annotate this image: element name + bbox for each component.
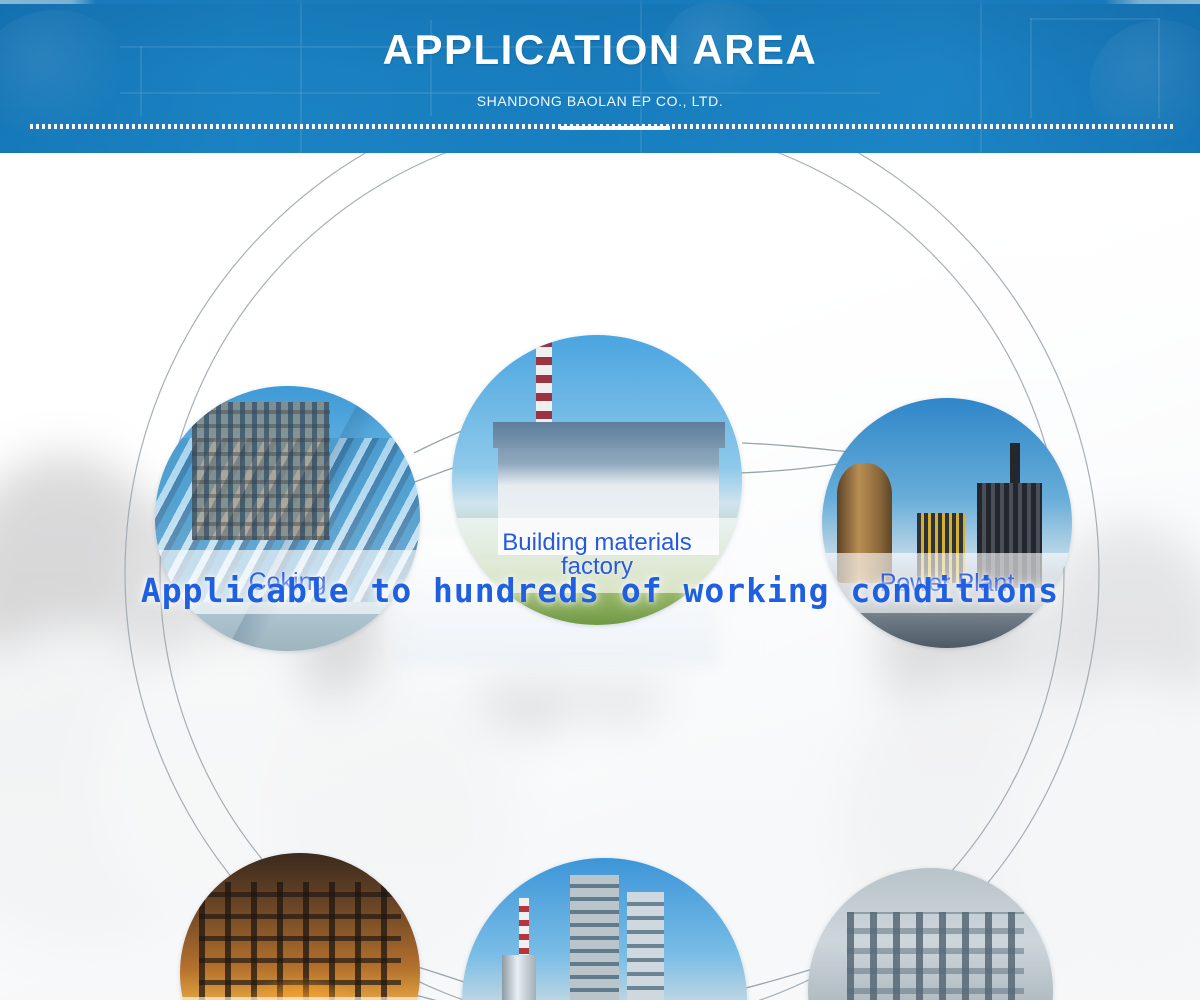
page-title: APPLICATION AREA (0, 27, 1200, 73)
header-divider-accent (560, 126, 670, 130)
node-chemical-industry[interactable]: Chemical Industry (462, 858, 747, 1000)
header-top-strip (0, 0, 1200, 4)
page-header-banner: APPLICATION AREA SHANDONG BAOLAN EP CO.,… (0, 0, 1200, 153)
node-coking[interactable]: Coking (155, 386, 420, 651)
header-foliage-overlay (0, 0, 1200, 153)
metallurgy-plant-photo (808, 868, 1053, 1000)
chemical-refinery-photo (462, 858, 747, 1000)
node-steel[interactable]: Steel (180, 853, 420, 1000)
page-subtitle: SHANDONG BAOLAN EP CO., LTD. (0, 93, 1200, 109)
node-power-plant[interactable]: Power Plant (822, 398, 1072, 648)
center-tagline: Applicable to hundreds of working condit… (0, 571, 1200, 610)
steel-furnace-photo (180, 853, 420, 1000)
node-metallurgy[interactable]: Metallurgy (808, 868, 1053, 1000)
diagram-stage: Coking Building materials factory (0, 153, 1200, 1000)
application-area-infographic: APPLICATION AREA SHANDONG BAOLAN EP CO.,… (0, 0, 1200, 1000)
